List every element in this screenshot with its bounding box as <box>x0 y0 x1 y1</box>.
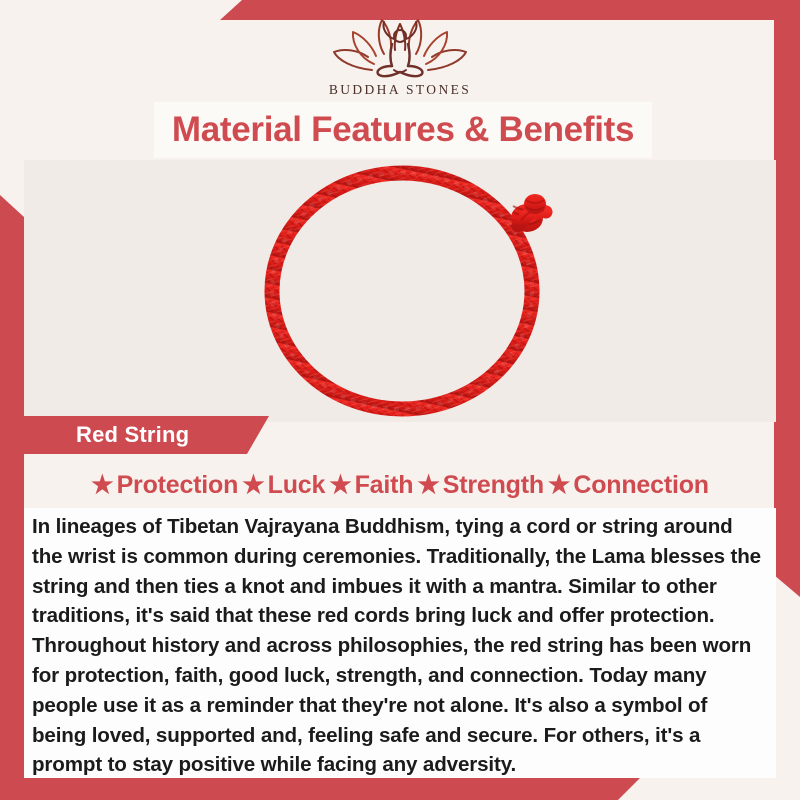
star-icon: ★ <box>329 473 351 498</box>
product-info-poster: BUDDHA STONES Material Features & Benefi… <box>0 0 800 800</box>
page-title: Material Features & Benefits <box>172 110 634 150</box>
description-panel: In lineages of Tibetan Vajrayana Buddhis… <box>24 508 776 778</box>
star-icon: ★ <box>91 473 113 498</box>
brand-logo: BUDDHA STONES <box>0 14 800 98</box>
benefit-item-connection: ★ Connection <box>548 471 709 500</box>
benefit-label: Connection <box>573 471 709 500</box>
benefit-label: Luck <box>268 471 326 500</box>
red-string-ribbon: Red String <box>24 416 269 454</box>
hero-product-image <box>24 160 776 422</box>
benefits-row: ★ Protection ★ Luck ★ Faith ★ Strength ★… <box>24 465 776 505</box>
decor-left-bar <box>0 195 24 780</box>
brand-name: BUDDHA STONES <box>329 82 471 98</box>
red-braided-string-bracelet-icon <box>24 160 776 422</box>
benefit-label: Faith <box>355 471 414 500</box>
benefit-item-protection: ★ Protection <box>91 471 238 500</box>
benefit-item-luck: ★ Luck <box>242 471 325 500</box>
ribbon-label: Red String <box>76 422 189 448</box>
description-text: In lineages of Tibetan Vajrayana Buddhis… <box>24 512 776 780</box>
title-band: Material Features & Benefits <box>154 102 652 158</box>
star-icon: ★ <box>417 473 439 498</box>
benefit-item-faith: ★ Faith <box>329 471 413 500</box>
benefit-item-strength: ★ Strength <box>417 471 544 500</box>
star-icon: ★ <box>548 473 570 498</box>
star-icon: ★ <box>242 473 264 498</box>
lotus-meditation-figure-icon <box>330 14 470 80</box>
benefit-label: Protection <box>117 471 239 500</box>
decor-bottom-bar <box>0 778 640 800</box>
benefit-label: Strength <box>443 471 544 500</box>
